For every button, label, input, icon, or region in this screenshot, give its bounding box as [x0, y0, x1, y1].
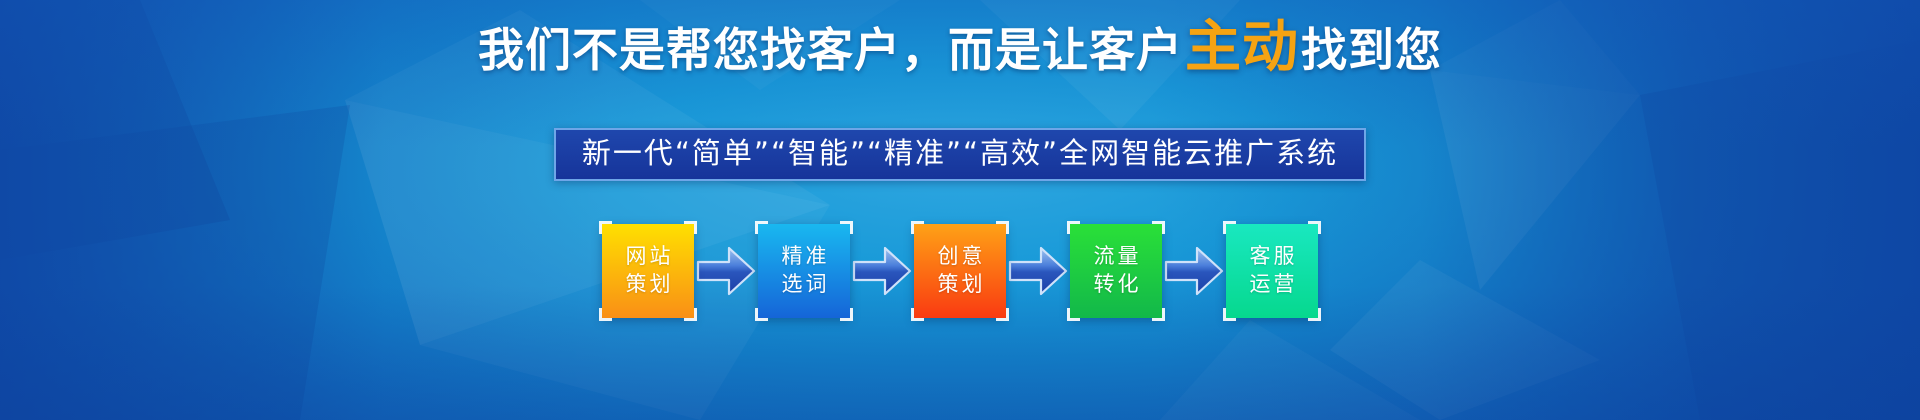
- flow-step-label-line1: 流量: [1091, 243, 1142, 271]
- arrow-right-icon: [694, 243, 758, 299]
- subtitle-bar: 新一代“简单”“智能”“精准”“高效”全网智能云推广系统: [554, 128, 1366, 181]
- flow-step-label-line1: 客服: [1247, 243, 1298, 271]
- headline-accent: 主动: [1185, 15, 1299, 80]
- arrow-right-icon: [850, 243, 914, 299]
- arrow-right-icon: [1162, 243, 1226, 299]
- headline: 我们不是帮您找客户，而是让客户主动找到您: [0, 20, 1920, 76]
- arrow-right-icon: [1006, 243, 1070, 299]
- promo-banner: 我们不是帮您找客户，而是让客户主动找到您 新一代“简单”“智能”“精准”“高效”…: [0, 0, 1920, 420]
- subtitle-banner: 新一代“简单”“智能”“精准”“高效”全网智能云推广系统: [0, 128, 1920, 181]
- flow-step-keyword-selection[interactable]: 精准选词: [758, 224, 850, 318]
- headline-part-2: 找到您: [1301, 23, 1442, 77]
- flow-step-traffic-conversion[interactable]: 流量转化: [1070, 224, 1162, 318]
- flow-step-label-line2: 选词: [779, 271, 830, 299]
- flow-step-label-line2: 转化: [1091, 271, 1142, 299]
- headline-part-1: 我们不是帮您找客户，而是让客户: [478, 23, 1183, 77]
- flow-step-website-planning[interactable]: 网站策划: [602, 224, 694, 318]
- flow-step-label-line2: 策划: [623, 271, 674, 299]
- subtitle-text: 新一代“简单”“智能”“精准”“高效”全网智能云推广系统: [582, 135, 1338, 171]
- process-flow: 网站策划精准选词创意策划流量转化客服运营: [0, 224, 1920, 318]
- flow-step-label-line1: 网站: [623, 243, 674, 271]
- flow-step-label-line2: 运营: [1247, 271, 1298, 299]
- flow-step-service-operation[interactable]: 客服运营: [1226, 224, 1318, 318]
- flow-step-label-line1: 精准: [779, 243, 830, 271]
- flow-step-label-line2: 策划: [935, 271, 986, 299]
- flow-step-label-line1: 创意: [935, 243, 986, 271]
- flow-step-creative-planning[interactable]: 创意策划: [914, 224, 1006, 318]
